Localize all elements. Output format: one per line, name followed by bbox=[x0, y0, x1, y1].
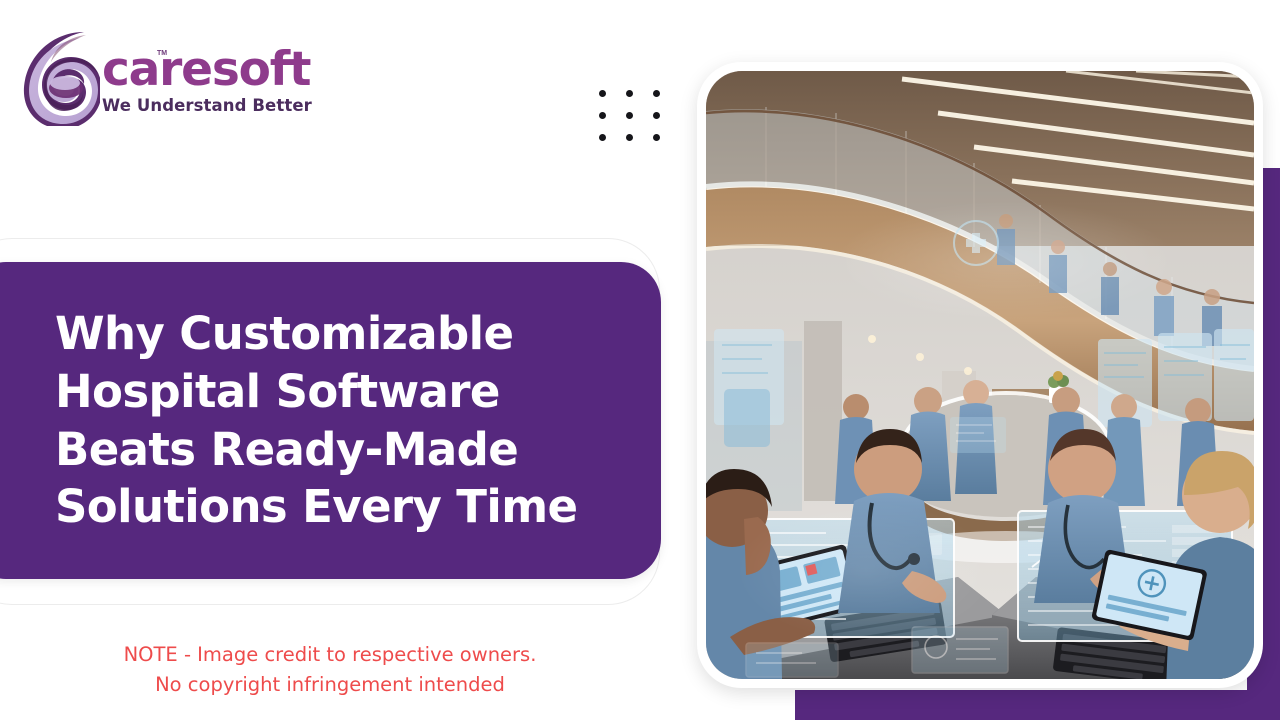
dot-grid-decoration bbox=[599, 90, 680, 156]
page-title: Why Customizable Hospital Software Beats… bbox=[0, 305, 601, 535]
logo-wordmark: caresoft bbox=[102, 48, 312, 93]
note-line-2: No copyright infringement intended bbox=[0, 670, 660, 700]
grid-dot bbox=[626, 134, 633, 141]
bottom-purple-accent-bar bbox=[795, 690, 1280, 720]
headline-line-4: Solutions Every Time bbox=[55, 478, 577, 536]
note-line-1: NOTE - Image credit to respective owners… bbox=[0, 640, 660, 670]
grid-dot bbox=[599, 134, 606, 141]
trademark-mark: TM bbox=[157, 50, 167, 57]
headline-line-3: Beats Ready-Made bbox=[55, 421, 577, 479]
caresoft-swirl-droplet-logo-icon bbox=[22, 26, 100, 126]
headline-line-1: Why Customizable bbox=[55, 305, 577, 363]
grid-dot bbox=[653, 112, 660, 119]
image-credit-note: NOTE - Image credit to respective owners… bbox=[0, 640, 660, 700]
hero-image-card bbox=[697, 62, 1263, 688]
grid-dot bbox=[626, 112, 633, 119]
grid-dot bbox=[599, 90, 606, 97]
grid-dot bbox=[653, 90, 660, 97]
headline-line-2: Hospital Software bbox=[55, 363, 577, 421]
logo-tagline: We Understand Better bbox=[102, 96, 312, 115]
grid-dot bbox=[599, 112, 606, 119]
headline-card: Why Customizable Hospital Software Beats… bbox=[0, 262, 661, 579]
grid-dot bbox=[653, 134, 660, 141]
hospital-photo bbox=[706, 71, 1254, 679]
brand-logo[interactable]: caresoft TM We Understand Better bbox=[22, 26, 312, 126]
logo-wordmark-group: caresoft TM We Understand Better bbox=[102, 48, 312, 115]
grid-dot bbox=[626, 90, 633, 97]
